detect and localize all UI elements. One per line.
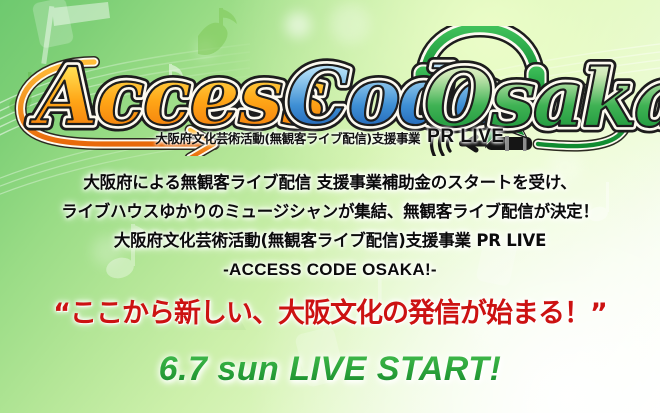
copy-line-1: 大阪府による無観客ライブ配信 支援事業補助金のスタートを受け、 (0, 168, 660, 197)
poster-canvas: Access Access Access Code Code Code Osak… (0, 0, 660, 413)
body-copy: 大阪府による無観客ライブ配信 支援事業補助金のスタートを受け、 ライブハウスゆか… (0, 168, 660, 284)
tagline-quote-text: “ここから新しい、大阪文化の発信が始まる！” (53, 298, 607, 329)
tagline-quote: “ここから新しい、大阪文化の発信が始まる！” (0, 291, 660, 330)
copy-line-3: 大阪府文化芸術活動(無観客ライブ配信)支援事業 PR LIVE (0, 226, 660, 255)
live-start-date: 6.7 sun LIVE START! (0, 350, 660, 389)
subtitle-pr-live: PR LIVE (427, 126, 504, 148)
subtitle-japanese: 大阪府文化芸術活動(無観客ライブ配信)支援事業 (155, 128, 420, 147)
copy-line-4: -ACCESS CODE OSAKA!- (0, 255, 660, 284)
live-start-date-text: 6.7 sun LIVE START! (159, 350, 502, 388)
subtitle-row: 大阪府文化芸術活動(無観客ライブ配信)支援事業 PR LIVE (0, 126, 660, 148)
copy-line-2: ライブハウスゆかりのミュージシャンが集結、無観客ライブ配信が決定！ (0, 197, 660, 226)
